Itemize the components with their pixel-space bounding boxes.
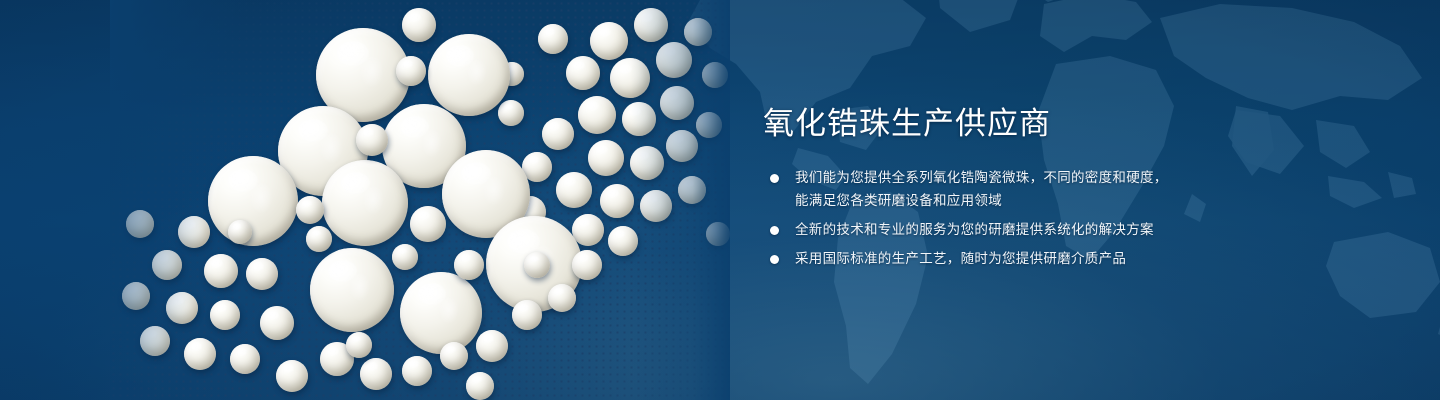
banner-content: 氧化锆珠生产供应商 我们能为您提供全系列氧化锆陶瓷微珠，不同的密度和硬度， 能满… <box>763 104 1233 277</box>
bullet-text-line: 采用国际标准的生产工艺，随时为您提供研磨介质产品 <box>795 248 1233 270</box>
beads-cluster <box>110 0 730 400</box>
list-item: 全新的技术和专业的服务为您的研磨提供系统化的解决方案 <box>763 219 1233 241</box>
bullet-dot-icon <box>770 226 779 235</box>
bullet-dot-icon <box>770 255 779 264</box>
bullet-dot-icon <box>770 174 779 183</box>
bullet-text-line: 能满足您各类研磨设备和应用领域 <box>795 190 1233 212</box>
feature-list: 我们能为您提供全系列氧化锆陶瓷微珠，不同的密度和硬度， 能满足您各类研磨设备和应… <box>763 167 1233 270</box>
hero-banner: 氧化锆珠生产供应商 我们能为您提供全系列氧化锆陶瓷微珠，不同的密度和硬度， 能满… <box>0 0 1440 400</box>
bullet-text-line: 全新的技术和专业的服务为您的研磨提供系统化的解决方案 <box>795 219 1233 241</box>
page-title: 氧化锆珠生产供应商 <box>763 104 1233 144</box>
zirconia-beads-photo <box>110 0 730 400</box>
list-item: 我们能为您提供全系列氧化锆陶瓷微珠，不同的密度和硬度， 能满足您各类研磨设备和应… <box>763 167 1233 212</box>
list-item: 采用国际标准的生产工艺，随时为您提供研磨介质产品 <box>763 248 1233 270</box>
bullet-text-line: 我们能为您提供全系列氧化锆陶瓷微珠，不同的密度和硬度， <box>795 167 1233 189</box>
